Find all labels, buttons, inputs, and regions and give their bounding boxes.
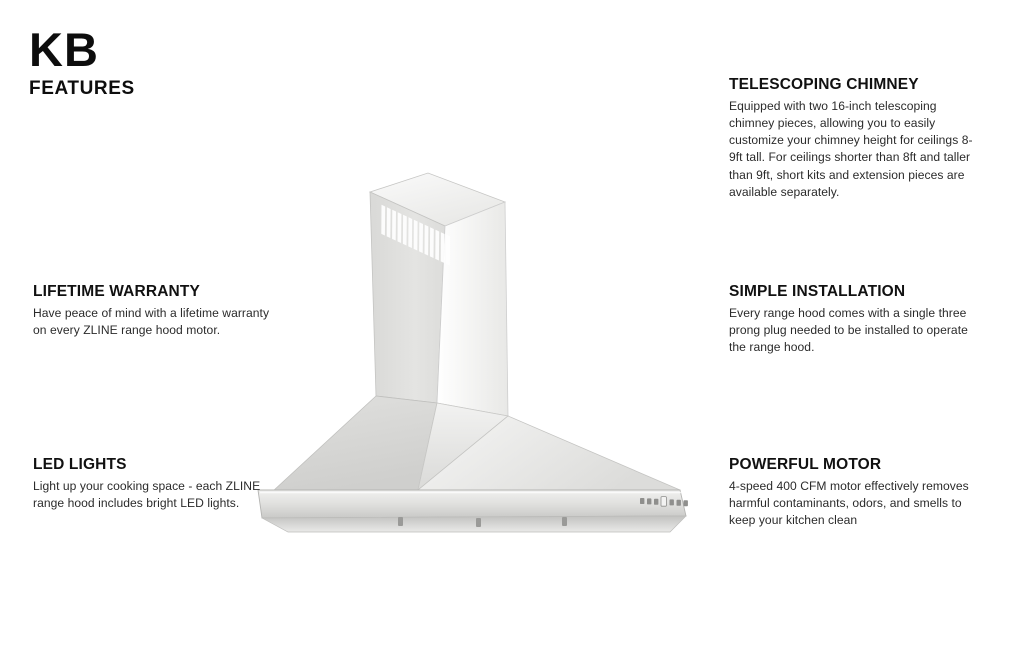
- feature-led-lights: LED LIGHTS Light up your cooking space -…: [33, 456, 283, 512]
- page-subtitle: FEATURES: [29, 79, 329, 98]
- control-button-1[interactable]: [640, 498, 644, 504]
- control-button-6[interactable]: [684, 500, 688, 506]
- feature-body: Light up your cooking space - each ZLINE…: [33, 478, 283, 512]
- feature-heading: SIMPLE INSTALLATION: [729, 283, 981, 301]
- product-image-range-hood: [240, 160, 720, 540]
- feature-body: Every range hood comes with a single thr…: [729, 305, 981, 357]
- feature-telescoping-chimney: TELESCOPING CHIMNEY Equipped with two 16…: [729, 76, 985, 201]
- feature-powerful-motor: POWERFUL MOTOR 4-speed 400 CFM motor eff…: [729, 456, 981, 529]
- hood-bottom-rim: [258, 490, 686, 518]
- hood-underside: [262, 516, 686, 532]
- brand-title: KB: [29, 26, 329, 73]
- chimney-left-face: [370, 192, 445, 403]
- feature-infographic-page: KB FEATURES: [0, 0, 1024, 663]
- feature-simple-installation: SIMPLE INSTALLATION Every range hood com…: [729, 283, 981, 356]
- control-button-5[interactable]: [677, 500, 681, 506]
- control-button-3[interactable]: [654, 499, 658, 505]
- feature-body: Equipped with two 16-inch telescoping ch…: [729, 98, 985, 201]
- feature-body: Have peace of mind with a lifetime warra…: [33, 305, 283, 339]
- page-title: KB FEATURES: [29, 26, 329, 98]
- canopy-left-face: [272, 396, 437, 492]
- feature-heading: LED LIGHTS: [33, 456, 283, 474]
- feature-heading: LIFETIME WARRANTY: [33, 283, 283, 301]
- feature-heading: TELESCOPING CHIMNEY: [729, 76, 985, 94]
- feature-lifetime-warranty: LIFETIME WARRANTY Have peace of mind wit…: [33, 283, 283, 339]
- control-button-power[interactable]: [661, 497, 666, 507]
- chimney-right-face: [437, 202, 508, 416]
- control-button-4[interactable]: [670, 499, 674, 505]
- feature-body: 4-speed 400 CFM motor effectively remove…: [729, 478, 981, 530]
- feature-heading: POWERFUL MOTOR: [729, 456, 981, 474]
- control-panel[interactable]: [636, 494, 688, 510]
- control-button-2[interactable]: [647, 498, 651, 504]
